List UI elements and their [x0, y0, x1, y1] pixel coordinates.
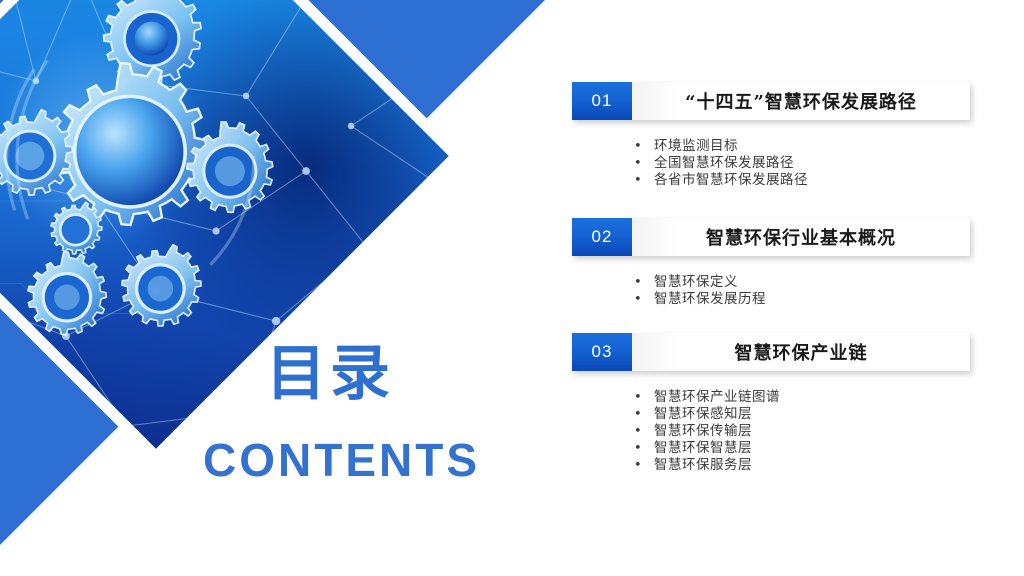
bullet-icon: • [634, 440, 654, 457]
list-item[interactable]: • 智慧环保感知层 [634, 406, 974, 423]
bullet-icon: • [634, 172, 654, 189]
bullet-icon: • [634, 406, 654, 423]
list-item[interactable]: • 智慧环保产业链图谱 [634, 389, 974, 406]
list-item-label: 智慧环保服务层 [654, 457, 752, 474]
section-title-03: 智慧环保产业链 [632, 333, 970, 371]
section-header-bar-01[interactable]: 01 “十四五”智慧环保发展路径 [572, 82, 970, 120]
list-item-label: 智慧环保发展历程 [654, 291, 766, 308]
bullet-icon: • [634, 155, 654, 172]
bullet-icon: • [634, 138, 654, 155]
list-item[interactable]: • 智慧环保发展历程 [634, 291, 974, 308]
section-bullet-list-01: • 环境监测目标 • 全国智慧环保发展路径 • 各省市智慧环保发展路径 [634, 138, 974, 189]
list-item-label: 智慧环保智慧层 [654, 440, 752, 457]
section-number-badge-02: 02 [572, 218, 632, 256]
section-header-bar-03[interactable]: 03 智慧环保产业链 [572, 333, 970, 371]
section-bullet-list-03: • 智慧环保产业链图谱 • 智慧环保感知层 • 智慧环保传输层 • 智慧环保智慧… [634, 389, 974, 474]
list-item[interactable]: • 环境监测目标 [634, 138, 974, 155]
section-title-02: 智慧环保行业基本概况 [632, 218, 970, 256]
list-item-label: 各省市智慧环保发展路径 [654, 172, 808, 189]
gear-cluster-icon [0, 0, 373, 373]
bullet-icon: • [634, 423, 654, 440]
decorative-artwork: 目录 CONTENTS [0, 0, 560, 576]
list-item-label: 全国智慧环保发展路径 [654, 155, 794, 172]
contents-section-01: 01 “十四五”智慧环保发展路径 • 环境监测目标 • 全国智慧环保发展路径 •… [572, 82, 970, 120]
list-item[interactable]: • 智慧环保智慧层 [634, 440, 974, 457]
list-item-label: 智慧环保感知层 [654, 406, 752, 423]
bullet-icon: • [634, 389, 654, 406]
page-title-cn: 目录 [266, 344, 394, 404]
list-item-label: 环境监测目标 [654, 138, 738, 155]
bullet-icon: • [634, 291, 654, 308]
list-item[interactable]: • 全国智慧环保发展路径 [634, 155, 974, 172]
list-item-label: 智慧环保定义 [654, 274, 738, 291]
list-item-label: 智慧环保产业链图谱 [654, 389, 780, 406]
contents-section-list: 01 “十四五”智慧环保发展路径 • 环境监测目标 • 全国智慧环保发展路径 •… [572, 0, 1024, 576]
list-item[interactable]: • 智慧环保定义 [634, 274, 974, 291]
list-item-label: 智慧环保传输层 [654, 423, 752, 440]
contents-section-03: 03 智慧环保产业链 • 智慧环保产业链图谱 • 智慧环保感知层 • 智慧环保传… [572, 333, 970, 371]
bullet-icon: • [634, 457, 654, 474]
contents-section-02: 02 智慧环保行业基本概况 • 智慧环保定义 • 智慧环保发展历程 [572, 218, 970, 256]
section-title-01: “十四五”智慧环保发展路径 [632, 82, 970, 120]
section-header-bar-02[interactable]: 02 智慧环保行业基本概况 [572, 218, 970, 256]
page-title-en: CONTENTS [203, 437, 480, 483]
list-item[interactable]: • 智慧环保服务层 [634, 457, 974, 474]
contents-slide: 目录 CONTENTS 01 “十四五”智慧环保发展路径 • 环境监测目标 • … [0, 0, 1024, 576]
section-number-badge-01: 01 [572, 82, 632, 120]
bullet-icon: • [634, 274, 654, 291]
list-item[interactable]: • 智慧环保传输层 [634, 423, 974, 440]
section-bullet-list-02: • 智慧环保定义 • 智慧环保发展历程 [634, 274, 974, 308]
list-item[interactable]: • 各省市智慧环保发展路径 [634, 172, 974, 189]
section-number-badge-03: 03 [572, 333, 632, 371]
